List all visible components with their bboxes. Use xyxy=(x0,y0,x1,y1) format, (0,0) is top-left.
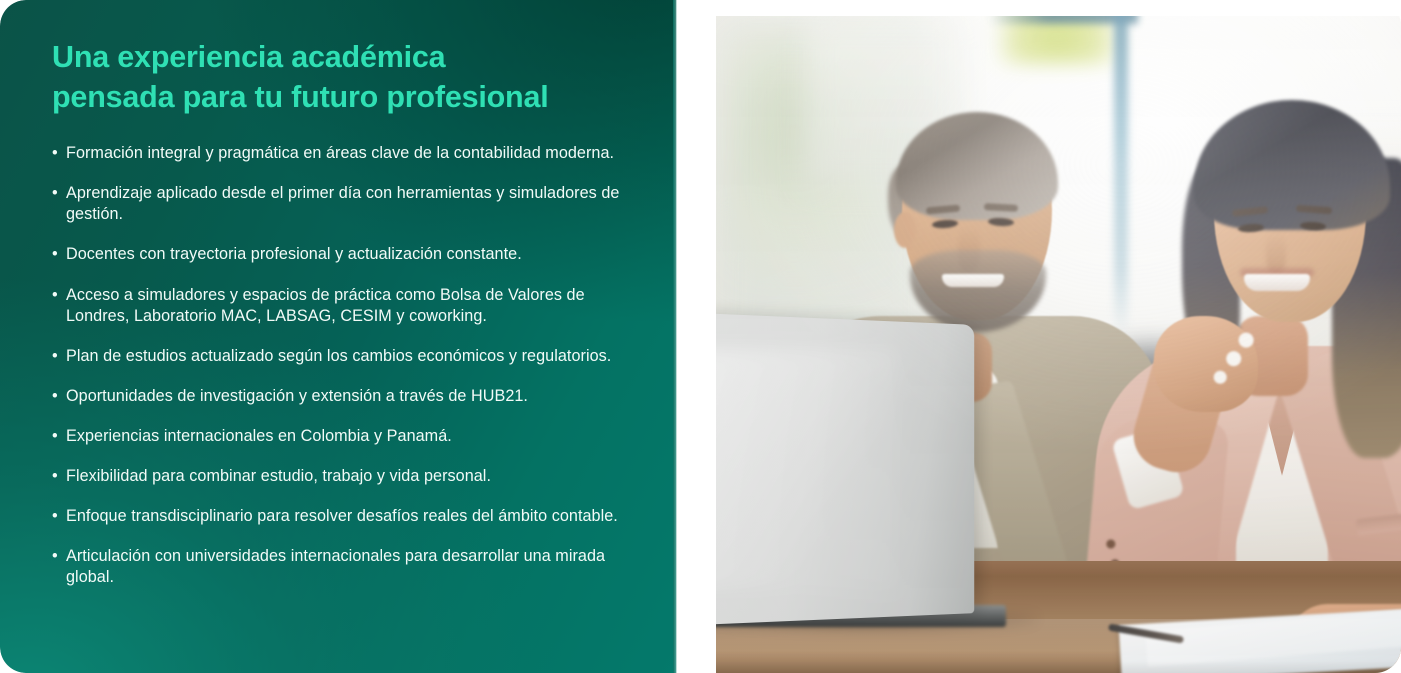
list-item: Oportunidades de investigación y extensi… xyxy=(52,386,632,407)
hero-photo xyxy=(716,16,1401,673)
list-item: Experiencias internacionales en Colombia… xyxy=(52,426,632,447)
benefits-panel: Una experiencia académica pensada para t… xyxy=(0,0,676,673)
list-item: Flexibilidad para combinar estudio, trab… xyxy=(52,466,632,487)
list-item: Enfoque transdisciplinario para resolver… xyxy=(52,506,632,527)
man-ear xyxy=(894,212,916,248)
woman-smile xyxy=(1244,274,1310,291)
laptop-highlight xyxy=(716,349,896,589)
list-item: Aprendizaje aplicado desde el primer día… xyxy=(52,183,632,225)
promo-banner: Una experiencia académica pensada para t… xyxy=(0,0,1401,673)
woman-fingernails xyxy=(1204,332,1258,390)
list-item: Articulación con universidades internaci… xyxy=(52,546,632,588)
benefits-list: Formación integral y pragmática en áreas… xyxy=(52,143,632,588)
list-item: Acceso a simuladores y espacios de práct… xyxy=(52,285,632,327)
benefits-panel-content: Una experiencia académica pensada para t… xyxy=(0,0,676,617)
panel-headline: Una experiencia académica pensada para t… xyxy=(52,38,632,117)
list-item: Docentes con trayectoria profesional y a… xyxy=(52,244,632,265)
list-item: Formación integral y pragmática en áreas… xyxy=(52,143,632,164)
window-frame-vertical xyxy=(1114,16,1128,336)
list-item: Plan de estudios actualizado según los c… xyxy=(52,346,632,367)
man-smile xyxy=(942,274,1004,287)
